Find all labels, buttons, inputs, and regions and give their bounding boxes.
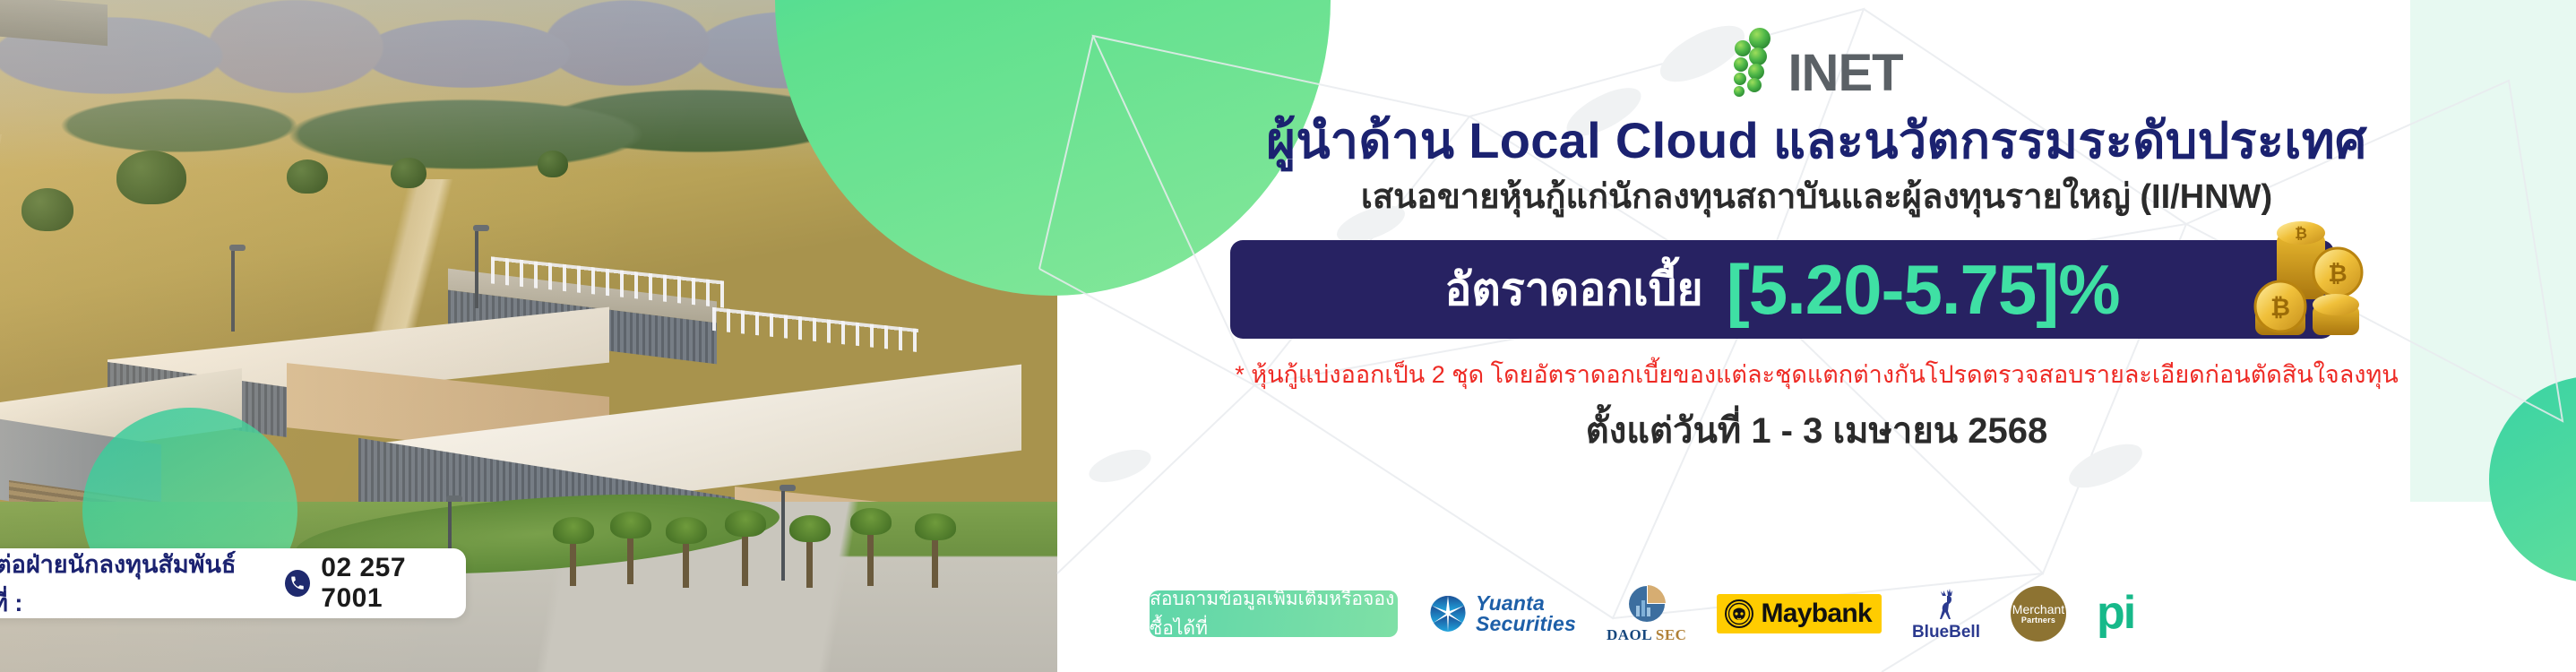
svg-text:₿: ₿ [2328,260,2347,287]
partner-logos: Yuanta Securities DAOL SEC [1428,584,2134,644]
partner-logo-merchant-partners[interactable]: Merchant Partners [2011,586,2066,642]
partner-logo-daol[interactable]: DAOL SEC [1607,584,1687,644]
cta-button[interactable]: สอบถามข้อมูลเพิ่มเติมหรือจองซื้อได้ที่ [1150,590,1398,637]
phone-icon [285,570,310,597]
partner-name-line1: Yuanta [1476,593,1576,614]
promo-banner: INET ผู้นำด้าน Local Cloud และนวัตกรรมระ… [0,0,2576,672]
contact-label: ติดต่อฝ่ายนักลงทุนสัมพันธ์ได้ที่ : [0,545,274,622]
partner-name-line1: DAOL [1607,626,1651,643]
partner-name-line2: Partners [2021,616,2055,625]
partner-name-line1: BlueBell [1912,623,1980,642]
contact-phone-number: 02 257 7001 [321,553,466,614]
svg-text:₿: ₿ [2295,225,2307,242]
svg-text:₿: ₿ [2270,294,2290,321]
interest-rate-box: อัตราดอกเบี้ย [5.20-5.75]% [1230,240,2334,339]
partner-name-line2: SEC [1656,626,1687,643]
disclaimer-note: * หุ้นกู้แบ่งออกเป็น 2 ชุด โดยอัตราดอกเบ… [1057,355,2576,393]
offering-dates: ตั้งแต่วันที่ 1 - 3 เมษายน 2568 [1057,401,2576,459]
partner-name-line1: Merchant [2012,603,2064,616]
yuanta-star-icon [1428,594,1468,633]
partner-logo-yuanta[interactable]: Yuanta Securities [1428,593,1576,634]
content-column: INET ผู้นำด้าน Local Cloud และนวัตกรรมระ… [1057,0,2576,672]
investor-relations-contact: ติดต่อฝ่ายนักลงทุนสัมพันธ์ได้ที่ : 02 25… [0,548,466,618]
inet-dots-logo-icon [1730,27,1782,97]
bluebell-deer-icon [1928,586,1964,622]
partner-row: สอบถามข้อมูลเพิ่มเติมหรือจองซื้อได้ที่ [1057,578,2576,650]
brand-logo-text: INET [1788,49,1902,97]
partner-logo-maybank[interactable]: Maybank [1717,594,1881,633]
partner-name-line1: Maybank [1761,599,1871,629]
partner-name-line2: Securities [1476,614,1576,634]
interest-rate-value: [5.20-5.75]% [1727,249,2120,331]
partner-logo-bluebell[interactable]: BlueBell [1912,586,1980,642]
maybank-tiger-icon [1724,599,1754,629]
gold-coins-icon: ₿ ₿ ₿ [2237,206,2372,358]
interest-rate-label: อัตราดอกเบี้ย [1444,254,1702,325]
partner-logo-pi[interactable]: pi [2097,595,2134,633]
brand-logo: INET [1057,16,2576,97]
daol-circle-icon [1626,584,1667,624]
